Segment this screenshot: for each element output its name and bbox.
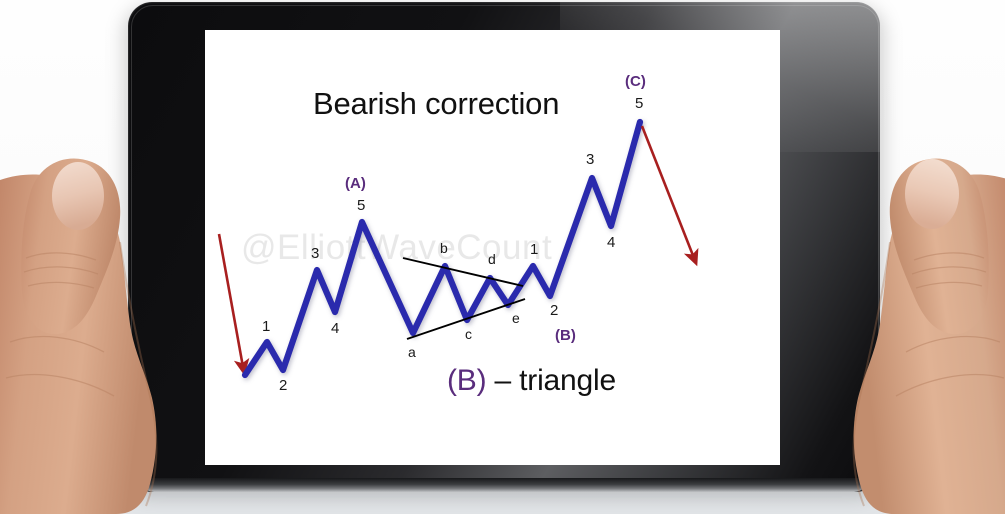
- caption-rest-label: – triangle: [486, 364, 616, 397]
- label-c3: 3: [586, 152, 594, 167]
- caption-degree-label: (B): [447, 364, 486, 397]
- tablet-screen[interactable]: @ElliottWaveCount: [205, 30, 780, 465]
- label-a1: 1: [262, 319, 270, 334]
- label-wave-B: (B): [555, 328, 576, 343]
- label-tri-a: a: [408, 345, 416, 359]
- label-tri-b: b: [440, 241, 448, 255]
- label-tri-d: d: [488, 252, 496, 266]
- exit-decline-arrow: [642, 126, 694, 258]
- triangle-upper-trendline: [403, 258, 523, 286]
- label-wave-C: (C): [625, 74, 646, 89]
- label-wave-A: (A): [345, 176, 366, 191]
- left-hand-holding-tablet: [0, 146, 240, 514]
- slide-caption: (B) – triangle: [447, 366, 616, 396]
- right-thumbnail: [905, 159, 959, 229]
- tablet-bottom-edge: [140, 478, 868, 492]
- screenshot-root: @ElliottWaveCount: [0, 0, 1005, 514]
- label-tri-e: e: [512, 311, 520, 325]
- left-thumbnail: [52, 162, 104, 230]
- right-hand-holding-tablet: [770, 146, 1005, 514]
- label-a5: 5: [357, 198, 365, 213]
- label-c5: 5: [635, 96, 643, 111]
- label-c1: 1: [530, 242, 538, 257]
- label-tri-c: c: [465, 327, 472, 341]
- slide-title: Bearish correction: [313, 88, 559, 119]
- label-a2: 2: [279, 378, 287, 393]
- label-c2: 2: [550, 303, 558, 318]
- label-a4: 4: [331, 321, 339, 336]
- label-a3: 3: [311, 246, 319, 261]
- label-c4: 4: [607, 235, 615, 250]
